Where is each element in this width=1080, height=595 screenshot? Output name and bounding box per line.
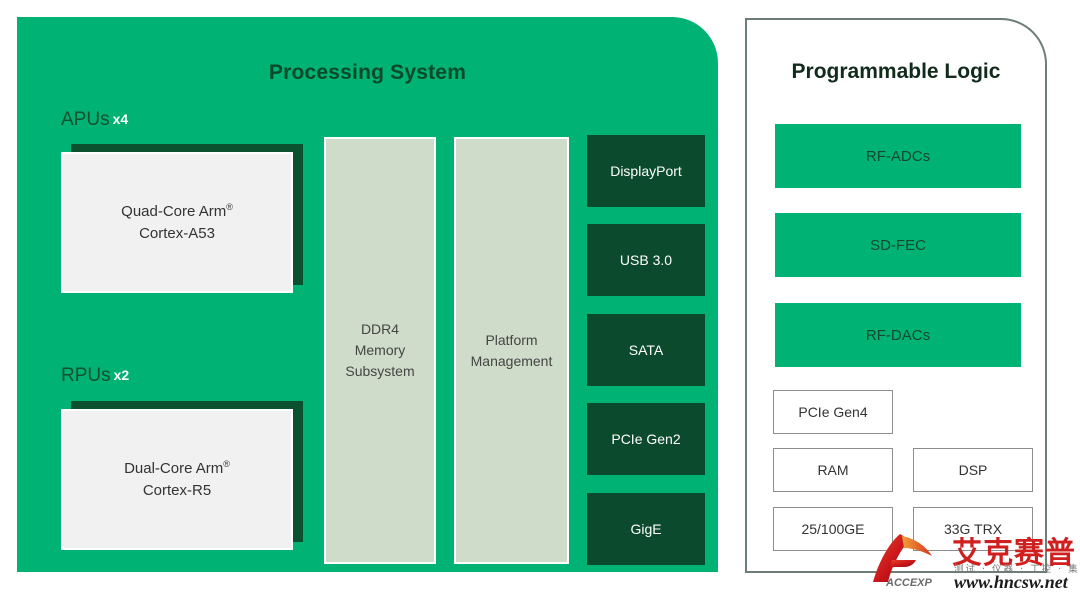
registered-trademark-icon: ®	[223, 459, 230, 469]
registered-trademark-icon: ®	[226, 202, 233, 212]
pl-block-33g-trx: 33G TRX	[913, 507, 1033, 551]
processing-system-panel: Processing System APUsx4 Quad-Core Arm® …	[17, 17, 718, 572]
rpu-core-box: Dual-Core Arm® Cortex-R5	[61, 409, 293, 550]
apu-core-block: Quad-Core Arm® Cortex-A53	[61, 152, 293, 293]
apus-multiplier: x4	[113, 111, 129, 127]
apu-core-line1: Quad-Core Arm	[121, 203, 226, 220]
platform-management-column: Platform Management	[454, 137, 569, 564]
peripheral-displayport: DisplayPort	[587, 135, 705, 207]
pl-block-25-100ge: 25/100GE	[773, 507, 893, 551]
ddr4-line2: Memory	[355, 342, 406, 358]
apus-label-text: APUs	[61, 109, 110, 130]
rpus-multiplier: x2	[114, 367, 130, 383]
platform-management-line1: Platform	[485, 332, 537, 348]
rpus-label-text: RPUs	[61, 365, 111, 386]
pl-block-sd-fec: SD-FEC	[773, 211, 1023, 279]
pl-block-pcie-gen4: PCIe Gen4	[773, 390, 893, 434]
peripheral-usb30: USB 3.0	[587, 224, 705, 296]
programmable-logic-title: Programmable Logic	[747, 60, 1045, 84]
ddr4-line1: DDR4	[361, 321, 399, 337]
ddr4-line3: Subsystem	[345, 363, 414, 379]
pl-block-rf-dacs: RF-DACs	[773, 301, 1023, 369]
peripheral-sata: SATA	[587, 314, 705, 386]
platform-management-line2: Management	[471, 353, 553, 369]
peripheral-gige: GigE	[587, 493, 705, 565]
pl-block-rf-adcs: RF-ADCs	[773, 122, 1023, 190]
svg-text:ACCEXP: ACCEXP	[885, 577, 933, 589]
ddr4-memory-subsystem-column: DDR4 Memory Subsystem	[324, 137, 436, 564]
rpu-core-line2: Cortex-R5	[143, 482, 211, 499]
programmable-logic-panel: Programmable Logic RF-ADCs SD-FEC RF-DAC…	[745, 18, 1047, 573]
peripheral-pcie-gen2: PCIe Gen2	[587, 403, 705, 475]
rpus-group-label: RPUsx2	[61, 365, 129, 387]
apu-core-box: Quad-Core Arm® Cortex-A53	[61, 152, 293, 293]
rpu-core-block: Dual-Core Arm® Cortex-R5	[61, 409, 293, 550]
pl-block-dsp: DSP	[913, 448, 1033, 492]
apus-group-label: APUsx4	[61, 109, 128, 131]
apu-core-line2: Cortex-A53	[139, 225, 215, 242]
processing-system-title: Processing System	[17, 61, 718, 85]
watermark-url: www.hncsw.net	[954, 572, 1068, 593]
rpu-core-line1: Dual-Core Arm	[124, 460, 223, 477]
diagram-canvas: Processing System APUsx4 Quad-Core Arm® …	[0, 0, 1080, 595]
pl-block-ram: RAM	[773, 448, 893, 492]
